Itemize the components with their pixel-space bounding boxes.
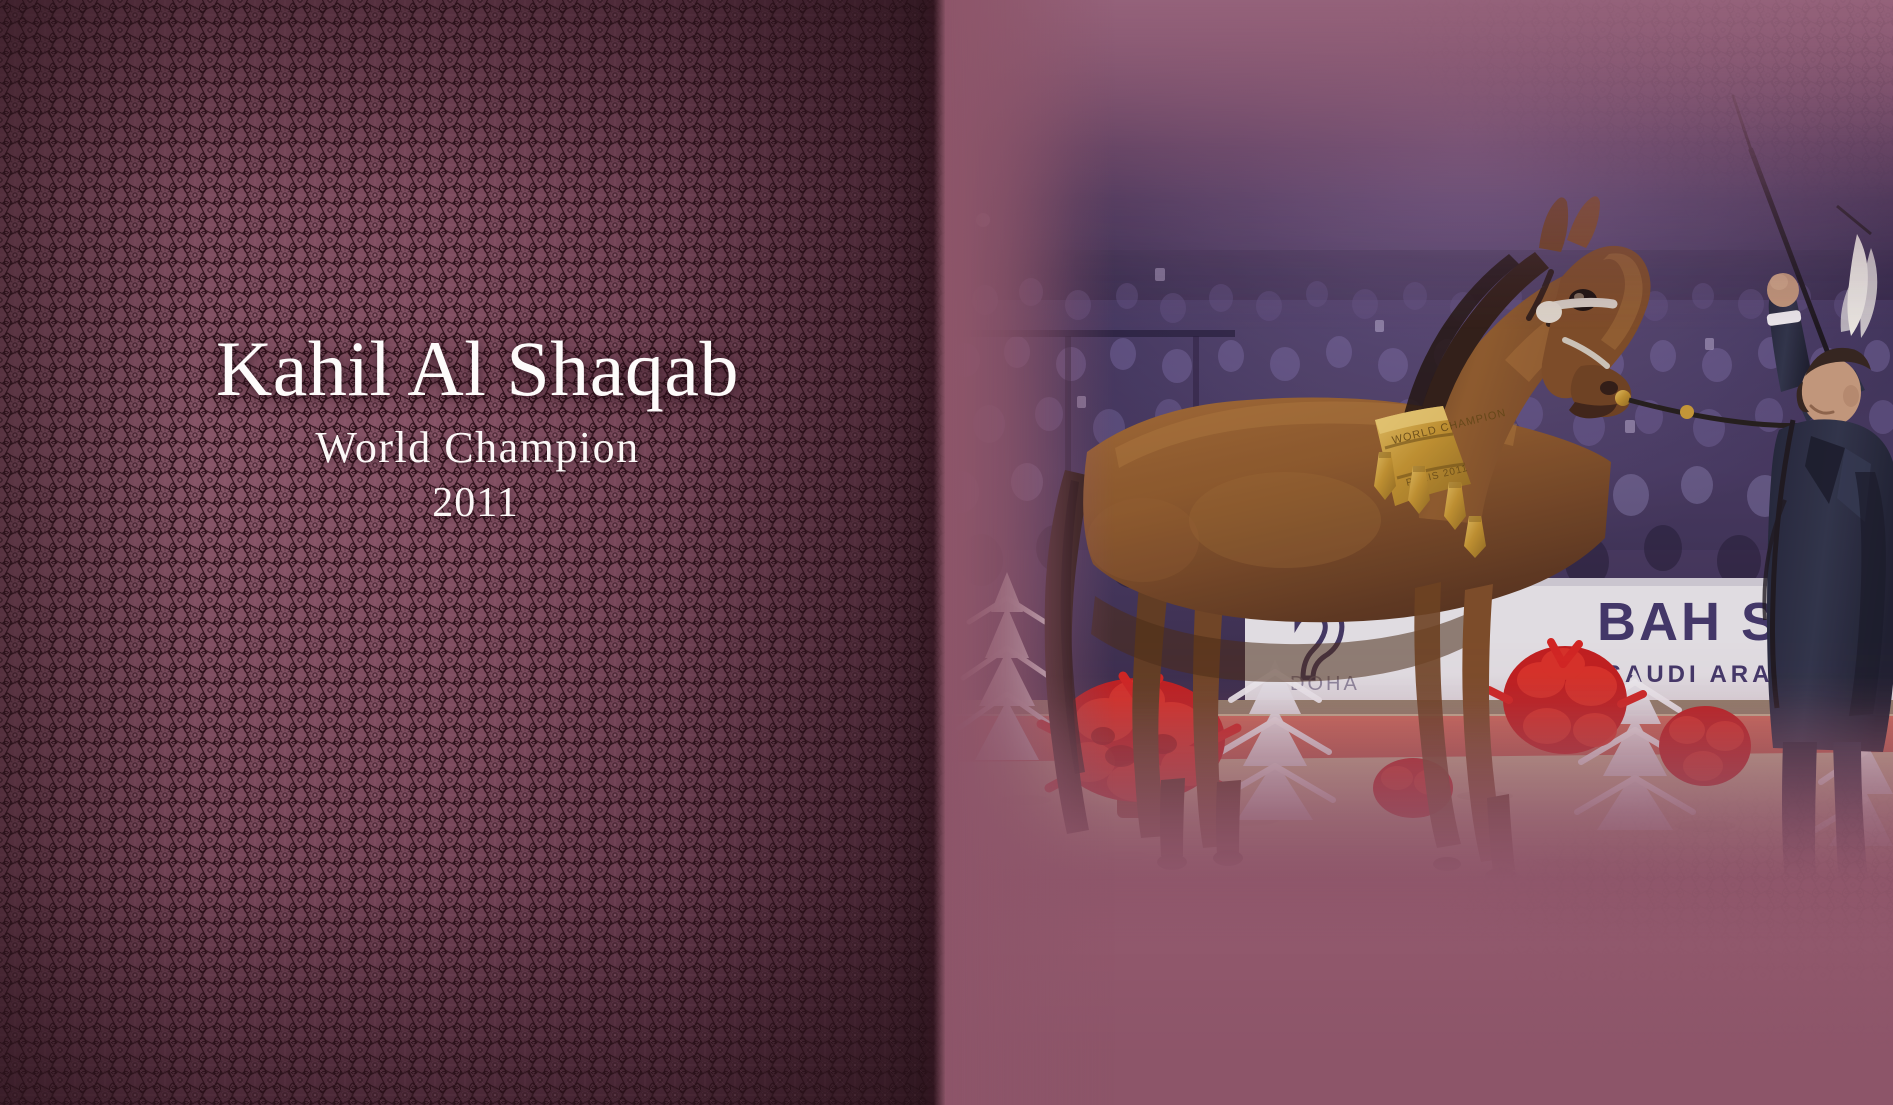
photo-artwork: BAH S SAUDI ARA DOHA (945, 0, 1893, 1105)
photo-panel: BAH S SAUDI ARA DOHA (945, 0, 1893, 1105)
poster-spread: Kahil Al Shaqab World Champion 2011 (0, 0, 1893, 1105)
championship-arena-photo: BAH S SAUDI ARA DOHA (945, 0, 1893, 1105)
ornamental-pattern-panel (0, 0, 945, 1105)
panel-vignette (0, 0, 945, 1105)
panel-right-edge (919, 0, 945, 1105)
